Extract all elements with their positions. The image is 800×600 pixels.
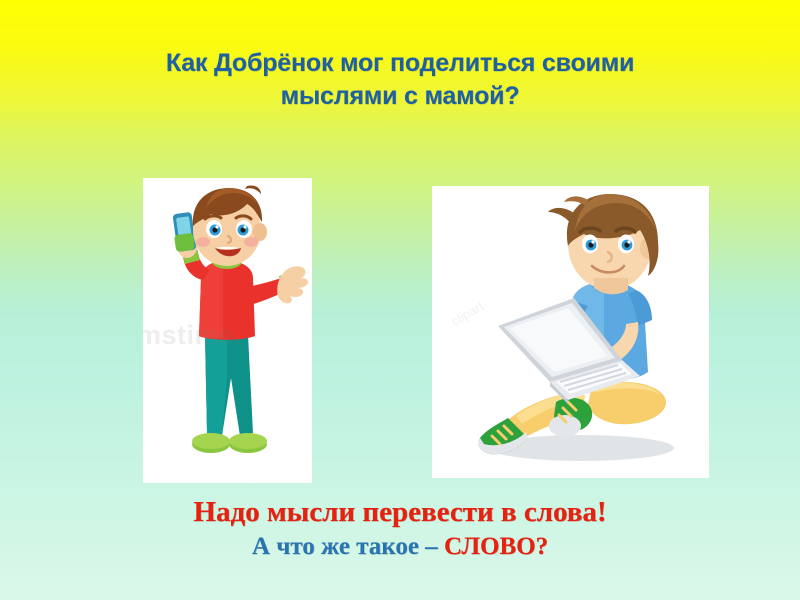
caption-line-2-red: СЛОВО? — [444, 533, 548, 560]
caption-line-1: Надо мысли перевести в слова! — [40, 494, 760, 530]
caption-block: Надо мысли перевести в слова! А что же т… — [40, 494, 760, 563]
boy-sitting-with-laptop-illustration — [432, 186, 709, 478]
slide-canvas: Как Добрёнок мог поделиться своими мысля… — [0, 0, 800, 600]
image-card-boy-laptop: clipart — [432, 186, 709, 478]
boy-talking-on-phone-illustration — [143, 178, 312, 483]
image-card-boy-phone: mstime. — [143, 178, 312, 483]
caption-line-2: А что же такое – СЛОВО? — [40, 530, 760, 563]
caption-line-2-blue: А что же такое – — [252, 533, 444, 560]
page-title: Как Добрёнок мог поделиться своими мысля… — [60, 47, 740, 113]
title-line-1: Как Добрёнок мог поделиться своими — [60, 47, 740, 80]
title-line-2: мыслями с мамой? — [60, 80, 740, 113]
